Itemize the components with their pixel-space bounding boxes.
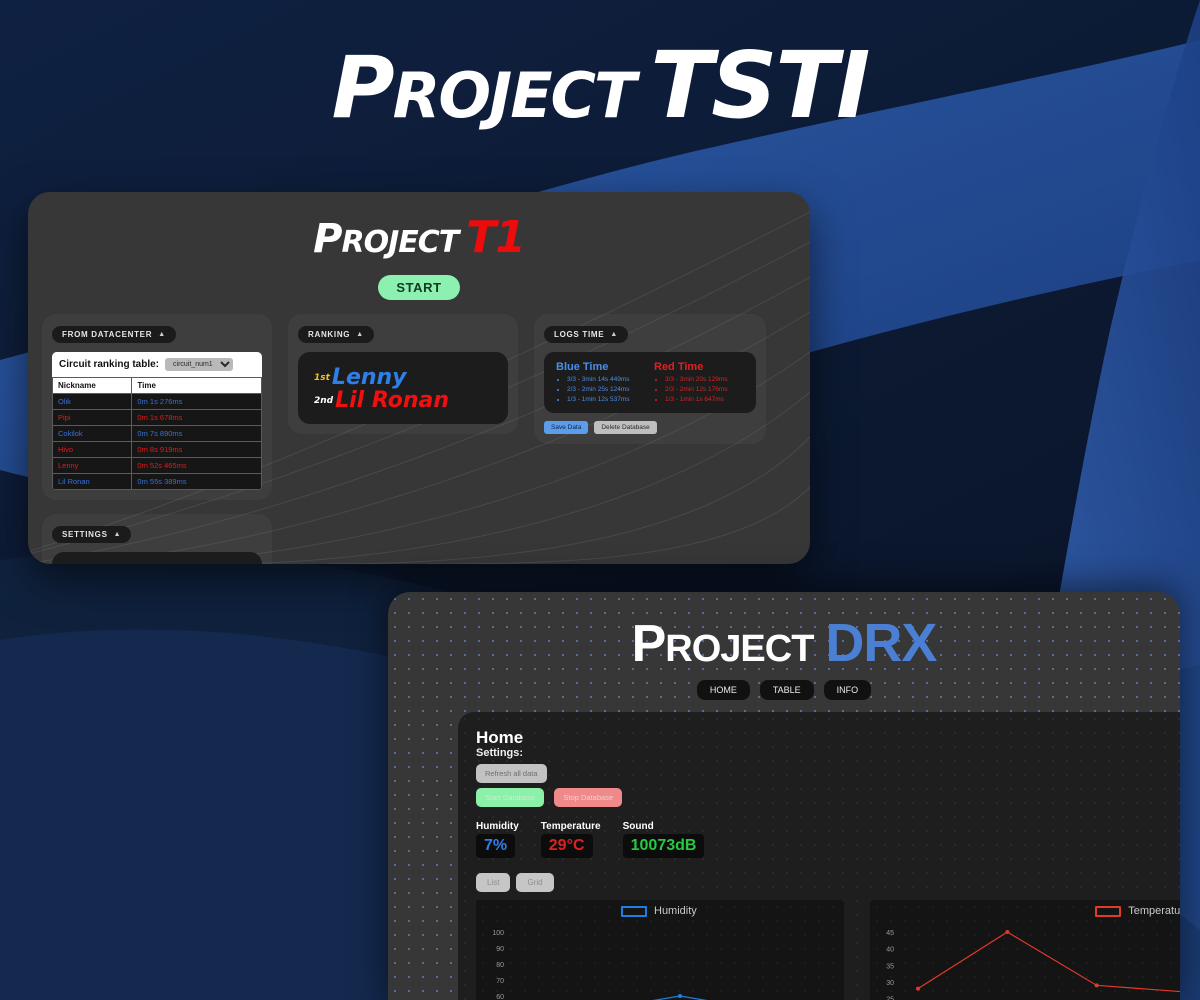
from-datacenter-label: FROM DATACENTER bbox=[62, 330, 152, 339]
drx-brand-roject: ROJECT bbox=[665, 628, 813, 670]
chevron-up-icon: ▲ bbox=[356, 331, 364, 338]
drx-navigation: HOMETABLEINFO bbox=[388, 680, 1180, 700]
blue-time-column: Blue Time 3/3 - 3min 14s 449ms2/3 - 2min… bbox=[556, 361, 646, 404]
charts-row: Humidity 1009080706050 Temperature 45403… bbox=[476, 900, 1180, 1000]
table-row[interactable]: Pipi0m 1s 678ms bbox=[53, 410, 262, 426]
settings-toggle[interactable]: SETTINGS ▲ bbox=[52, 526, 131, 543]
logs-section: LOGS TIME ▲ Blue Time 3/3 - 3min 14s 449… bbox=[534, 314, 766, 444]
drx-brand: PROJECTDRX bbox=[388, 592, 1180, 674]
metric-value: 29°C bbox=[541, 834, 593, 858]
project-drx-window[interactable]: PROJECTDRX HOMETABLEINFO Home Settings: … bbox=[388, 592, 1180, 1000]
desktop-title-roject: ROJECT bbox=[393, 59, 635, 132]
logs-toggle[interactable]: LOGS TIME ▲ bbox=[544, 326, 628, 343]
ranking-position: 2nd bbox=[314, 396, 333, 406]
drx-brand-p: P bbox=[632, 615, 666, 673]
metric-value: 7% bbox=[476, 834, 515, 858]
column-nickname: Nickname bbox=[53, 378, 132, 394]
ranking-toggle[interactable]: RANKING ▲ bbox=[298, 326, 374, 343]
save-data-button[interactable]: Save Data bbox=[544, 421, 588, 434]
settings-section: SETTINGS ▲ bbox=[42, 514, 272, 564]
ranking-label: RANKING bbox=[308, 330, 350, 339]
nav-home[interactable]: HOME bbox=[697, 680, 750, 700]
metric-label: Humidity bbox=[476, 821, 519, 832]
page-title: Home bbox=[476, 728, 1180, 748]
view-toggle-buttons: ListGrid bbox=[476, 872, 1180, 892]
temperature-plot: 454035302520 bbox=[870, 900, 1180, 1000]
cell-time: 0m 8s 919ms bbox=[132, 442, 262, 458]
log-entry: 2/3 - 2min 12s 176ms bbox=[665, 385, 744, 395]
column-time: Time bbox=[132, 378, 262, 394]
humidity-chart[interactable]: Humidity 1009080706050 bbox=[476, 900, 844, 1000]
chevron-up-icon: ▲ bbox=[158, 331, 166, 338]
temperature-chart[interactable]: Temperature 454035302520 bbox=[870, 900, 1180, 1000]
metric-sound: Sound10073dB bbox=[623, 821, 705, 858]
ranking-column: RANKING ▲ 1stLenny2ndLil Ronan bbox=[288, 314, 518, 434]
refresh-all-data-button[interactable]: Refresh all data bbox=[476, 764, 547, 783]
view-button-grid[interactable]: Grid bbox=[516, 873, 553, 892]
circuit-ranking-body: Olik0m 1s 276msPipi0m 1s 678msCokilok0m … bbox=[53, 394, 262, 490]
logs-label: LOGS TIME bbox=[554, 330, 604, 339]
desktop-title-tsti: TSTI bbox=[650, 32, 868, 139]
cell-time: 0m 7s 890ms bbox=[132, 426, 262, 442]
ranking-name: Lil Ronan bbox=[335, 388, 449, 413]
settings-heading: Settings: bbox=[476, 747, 1180, 759]
cell-time: 0m 1s 276ms bbox=[132, 394, 262, 410]
start-button[interactable]: START bbox=[378, 275, 459, 300]
blue-time-title: Blue Time bbox=[556, 361, 646, 373]
metric-humidity: Humidity7% bbox=[476, 821, 519, 858]
metric-label: Sound bbox=[623, 821, 705, 832]
delete-database-button[interactable]: Delete Database bbox=[594, 421, 656, 434]
metric-value: 10073dB bbox=[623, 834, 705, 858]
settings-label: SETTINGS bbox=[62, 530, 108, 539]
table-row[interactable]: Lenny0m 52s 465ms bbox=[53, 458, 262, 474]
red-time-list: 3/3 - 3min 20s 129ms2/3 - 2min 12s 176ms… bbox=[654, 375, 744, 404]
circuit-ranking-card: Circuit ranking table: circuit_num1 Nick… bbox=[52, 352, 262, 490]
desktop-title: PROJECTTSTI bbox=[0, 32, 1200, 139]
from-datacenter-section: FROM DATACENTER ▲ Circuit ranking table:… bbox=[42, 314, 272, 500]
t1-brand-roject: ROJECT bbox=[341, 225, 458, 260]
chevron-up-icon: ▲ bbox=[610, 331, 618, 338]
table-row[interactable]: Lil Ronan0m 55s 389ms bbox=[53, 474, 262, 490]
log-entry: 1/3 - 1min 12s 537ms bbox=[567, 395, 646, 405]
cell-time: 0m 55s 389ms bbox=[132, 474, 262, 490]
circuit-ranking-label: Circuit ranking table: bbox=[59, 359, 159, 370]
svg-text:35: 35 bbox=[886, 963, 894, 970]
from-datacenter-column: FROM DATACENTER ▲ Circuit ranking table:… bbox=[42, 314, 272, 564]
cell-time: 0m 52s 465ms bbox=[132, 458, 262, 474]
circuit-ranking-table: Nickname Time Olik0m 1s 276msPipi0m 1s 6… bbox=[52, 377, 262, 490]
svg-text:30: 30 bbox=[886, 980, 894, 987]
log-entry: 2/3 - 2min 25s 124ms bbox=[567, 385, 646, 395]
metrics-row: Humidity7%Temperature29°CSound10073dB bbox=[476, 821, 1180, 858]
chevron-up-icon: ▲ bbox=[114, 531, 122, 538]
table-row[interactable]: Hivo0m 8s 919ms bbox=[53, 442, 262, 458]
view-button-list[interactable]: List bbox=[476, 873, 510, 892]
svg-text:100: 100 bbox=[492, 930, 504, 937]
circuit-ranking-header: Circuit ranking table: circuit_num1 bbox=[52, 352, 262, 377]
svg-text:40: 40 bbox=[886, 947, 894, 954]
cell-nickname: Cokilok bbox=[53, 426, 132, 442]
cell-nickname: Olik bbox=[53, 394, 132, 410]
stop-database-button[interactable]: Stop Database bbox=[554, 788, 622, 807]
svg-text:80: 80 bbox=[496, 962, 504, 969]
table-row[interactable]: Cokilok0m 7s 890ms bbox=[53, 426, 262, 442]
from-datacenter-toggle[interactable]: FROM DATACENTER ▲ bbox=[52, 326, 176, 343]
drx-home-panel: Home Settings: Refresh all data Start Da… bbox=[458, 712, 1180, 1000]
nav-table[interactable]: TABLE bbox=[760, 680, 814, 700]
circuit-select[interactable]: circuit_num1 bbox=[165, 358, 233, 371]
red-time-title: Red Time bbox=[654, 361, 744, 373]
ranking-position: 1st bbox=[314, 373, 330, 383]
log-entry: 3/3 - 3min 20s 129ms bbox=[665, 375, 744, 385]
metric-temperature: Temperature29°C bbox=[541, 821, 601, 858]
ranking-section: RANKING ▲ 1stLenny2ndLil Ronan bbox=[288, 314, 518, 434]
table-header-row: Nickname Time bbox=[53, 378, 262, 394]
humidity-plot: 1009080706050 bbox=[476, 900, 844, 1000]
drx-brand-drx: DRX bbox=[825, 613, 936, 673]
log-entry: 3/3 - 3min 14s 449ms bbox=[567, 375, 646, 385]
desktop-title-p: P bbox=[332, 38, 393, 138]
svg-text:90: 90 bbox=[496, 946, 504, 953]
cell-time: 0m 1s 678ms bbox=[132, 410, 262, 426]
ranking-entry: 2ndLil Ronan bbox=[314, 389, 492, 412]
metric-label: Temperature bbox=[541, 821, 601, 832]
start-database-button[interactable]: Start Database bbox=[476, 788, 544, 807]
t1-brand-t1: T1 bbox=[466, 212, 525, 263]
logs-column: LOGS TIME ▲ Blue Time 3/3 - 3min 14s 449… bbox=[534, 314, 766, 444]
project-t1-window[interactable]: PROJECTT1 START FROM DATACENTER ▲ Circui… bbox=[28, 192, 810, 564]
t1-brand: PROJECTT1 bbox=[28, 212, 810, 263]
svg-text:60: 60 bbox=[496, 994, 504, 1000]
logs-card: Blue Time 3/3 - 3min 14s 449ms2/3 - 2min… bbox=[544, 352, 756, 413]
cell-nickname: Lenny bbox=[53, 458, 132, 474]
red-time-column: Red Time 3/3 - 3min 20s 129ms2/3 - 2min … bbox=[654, 361, 744, 404]
svg-text:70: 70 bbox=[496, 978, 504, 985]
svg-text:45: 45 bbox=[886, 930, 894, 937]
ranking-name: Lenny bbox=[332, 365, 407, 390]
log-entry: 1/3 - 1min 1s 647ms bbox=[665, 395, 744, 405]
cell-nickname: Pipi bbox=[53, 410, 132, 426]
blue-time-list: 3/3 - 3min 14s 449ms2/3 - 2min 25s 124ms… bbox=[556, 375, 646, 404]
ranking-entry: 1stLenny bbox=[314, 366, 492, 389]
cell-nickname: Lil Ronan bbox=[53, 474, 132, 490]
cell-nickname: Hivo bbox=[53, 442, 132, 458]
table-row[interactable]: Olik0m 1s 276ms bbox=[53, 394, 262, 410]
t1-brand-p: P bbox=[313, 216, 341, 262]
ranking-card: 1stLenny2ndLil Ronan bbox=[298, 352, 508, 424]
settings-card bbox=[52, 552, 262, 564]
nav-info[interactable]: INFO bbox=[824, 680, 872, 700]
